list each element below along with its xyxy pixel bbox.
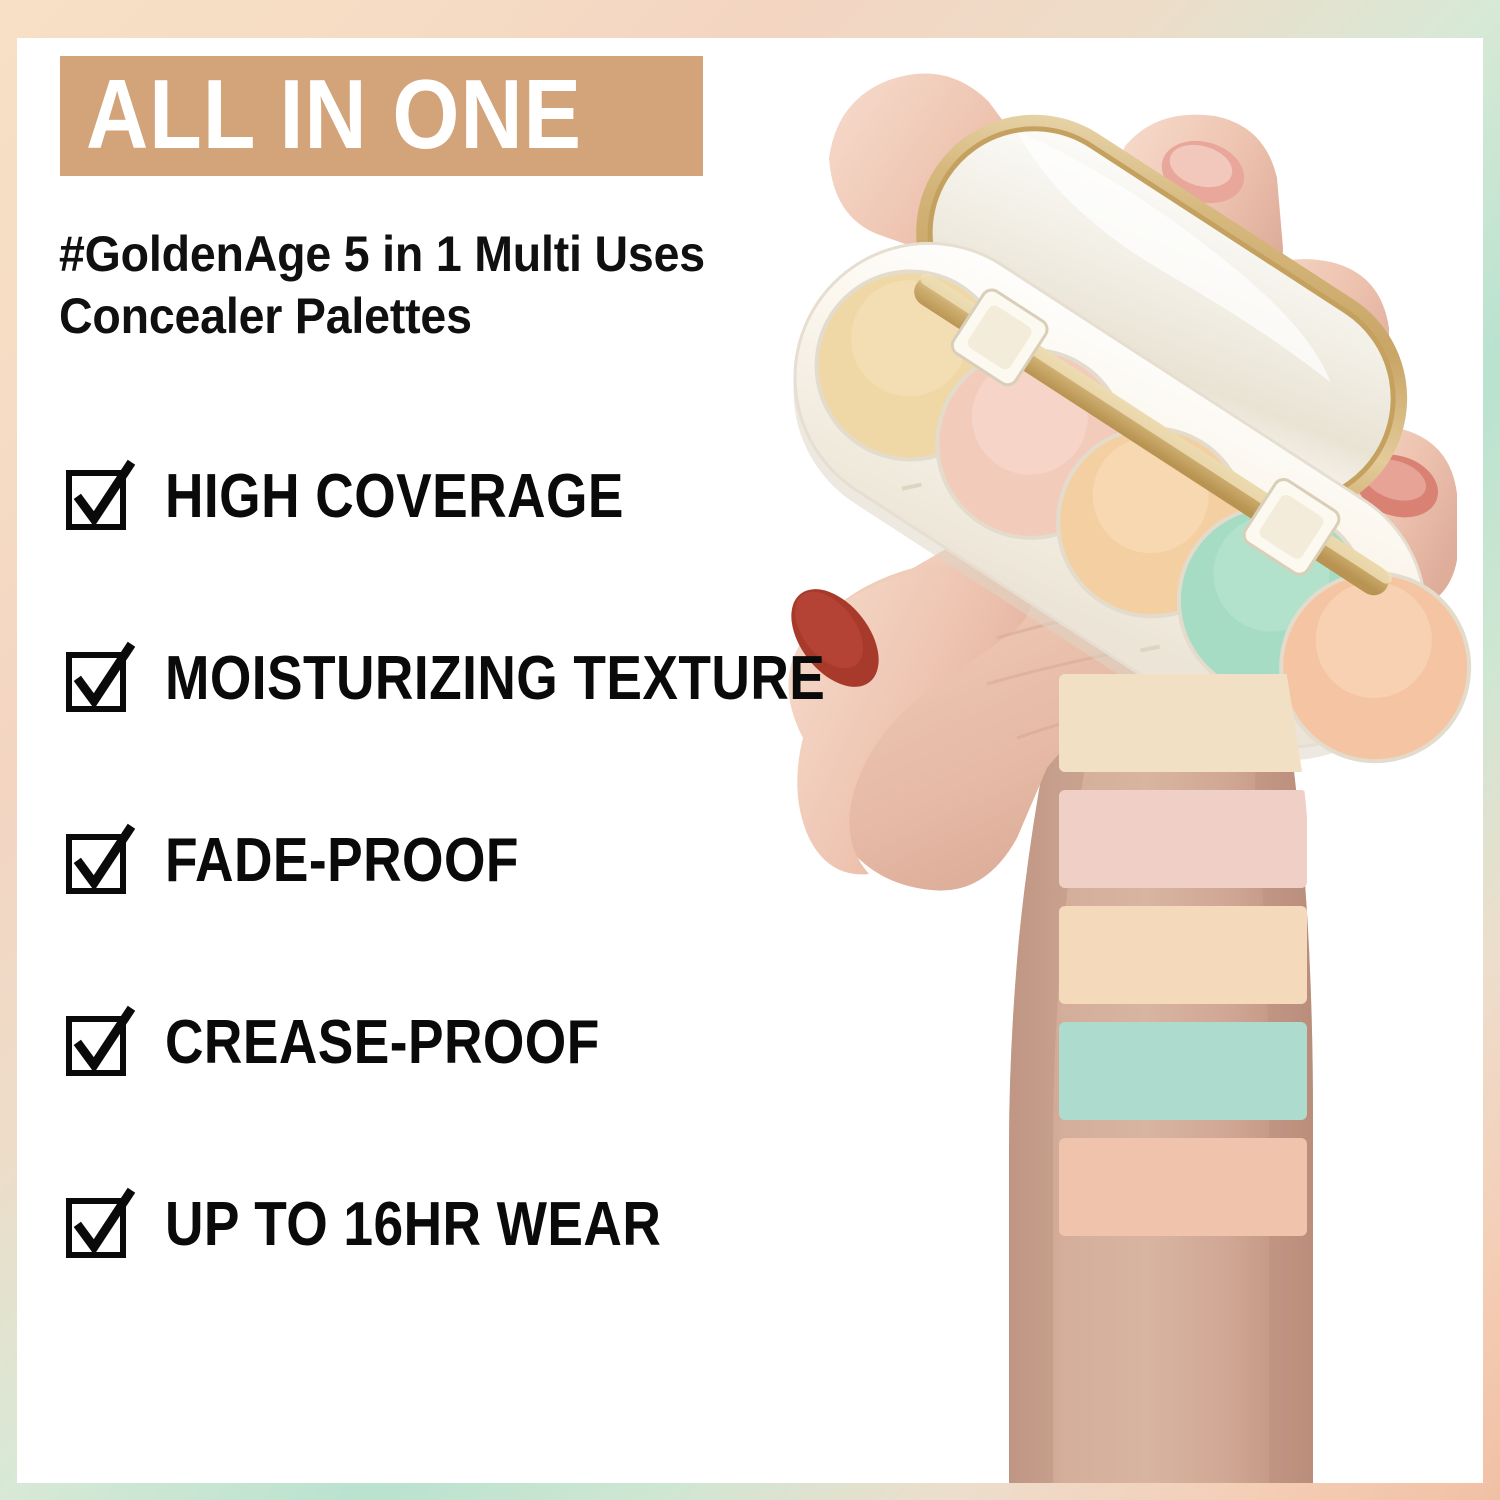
checked-checkbox-icon: [65, 828, 131, 894]
checked-checkbox-icon: [65, 646, 131, 712]
swatch-pink: [1059, 790, 1307, 888]
checked-checkbox-icon: [65, 1192, 131, 1258]
list-item: FADE-PROOF: [65, 807, 845, 915]
list-item: MOISTURIZING TEXTURE: [65, 625, 845, 733]
subtitle-line-2: Concealer Palettes: [59, 285, 747, 347]
swatch-beige: [1059, 906, 1307, 1004]
feature-label: FADE-PROOF: [165, 830, 519, 892]
list-item: CREASE-PROOF: [65, 989, 845, 1097]
checked-checkbox-icon: [65, 1010, 131, 1076]
checked-checkbox-icon: [65, 464, 131, 530]
product-card-canvas: ALL IN ONE #GoldenAge 5 in 1 Multi Uses …: [17, 38, 1483, 1483]
all-in-one-badge: ALL IN ONE: [60, 56, 703, 176]
list-item: HIGH COVERAGE: [65, 443, 845, 551]
feature-label: MOISTURIZING TEXTURE: [165, 648, 825, 710]
product-subtitle: #GoldenAge 5 in 1 Multi Uses Concealer P…: [59, 223, 747, 347]
subtitle-line-1: #GoldenAge 5 in 1 Multi Uses: [59, 223, 747, 285]
feature-label: CREASE-PROOF: [165, 1012, 600, 1074]
feature-label: UP TO 16HR WEAR: [165, 1194, 661, 1256]
feature-list: HIGH COVERAGE MOISTURIZING TEXTURE: [65, 443, 845, 1279]
feature-label: HIGH COVERAGE: [165, 466, 624, 528]
badge-label: ALL IN ONE: [86, 65, 582, 163]
arm-swatches: [1059, 674, 1307, 1236]
gradient-frame: ALL IN ONE #GoldenAge 5 in 1 Multi Uses …: [0, 0, 1500, 1500]
swatch-peach: [1059, 1138, 1307, 1236]
swatch-mint: [1059, 1022, 1307, 1120]
list-item: UP TO 16HR WEAR: [65, 1171, 845, 1279]
swatch-cream: [1059, 674, 1307, 772]
